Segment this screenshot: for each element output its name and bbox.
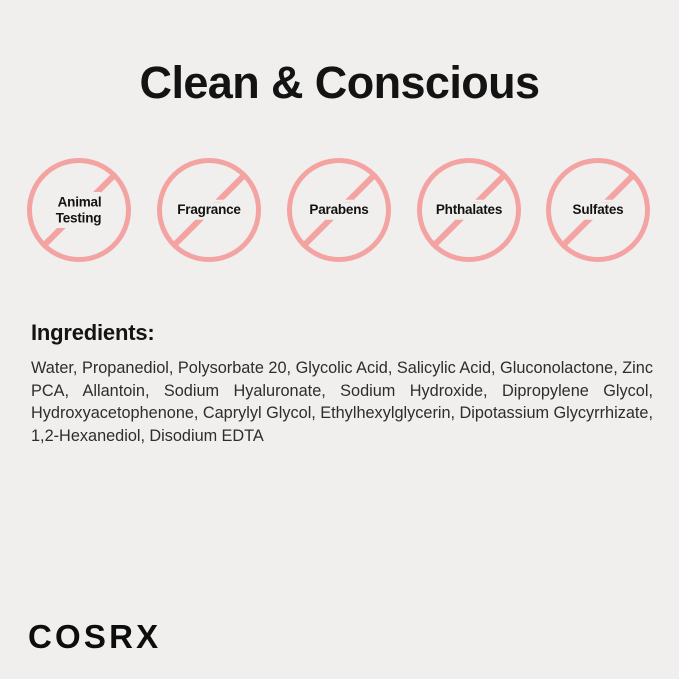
badge-label: Fragrance: [143, 202, 275, 218]
badge-label: Parabens: [273, 202, 405, 218]
badge-phthalates: Phthalates: [417, 158, 521, 262]
product-info-panel: Clean & Conscious AnimalTesting Fragranc…: [0, 0, 679, 679]
badge-label-line: Phthalates: [435, 202, 503, 217]
free-from-badge-row: AnimalTesting Fragrance Parabens Phthala…: [27, 158, 652, 264]
badge-parabens: Parabens: [287, 158, 391, 262]
page-title: Clean & Conscious: [0, 58, 679, 108]
badge-label-line: AnimalTesting: [56, 194, 103, 225]
badge-label-line: Parabens: [308, 202, 369, 217]
badge-label-line: Fragrance: [176, 202, 241, 217]
ingredients-list: Water, Propanediol, Polysorbate 20, Glyc…: [31, 357, 653, 447]
ingredients-heading: Ingredients:: [31, 320, 155, 346]
badge-sulfates: Sulfates: [546, 158, 650, 262]
badge-label: AnimalTesting: [13, 194, 145, 225]
badge-label: Sulfates: [532, 202, 664, 218]
badge-label-line: Sulfates: [572, 202, 625, 217]
badge-animal-testing: AnimalTesting: [27, 158, 131, 262]
brand-logo: COSRX: [28, 620, 161, 653]
badge-fragrance: Fragrance: [157, 158, 261, 262]
badge-label: Phthalates: [403, 202, 535, 218]
